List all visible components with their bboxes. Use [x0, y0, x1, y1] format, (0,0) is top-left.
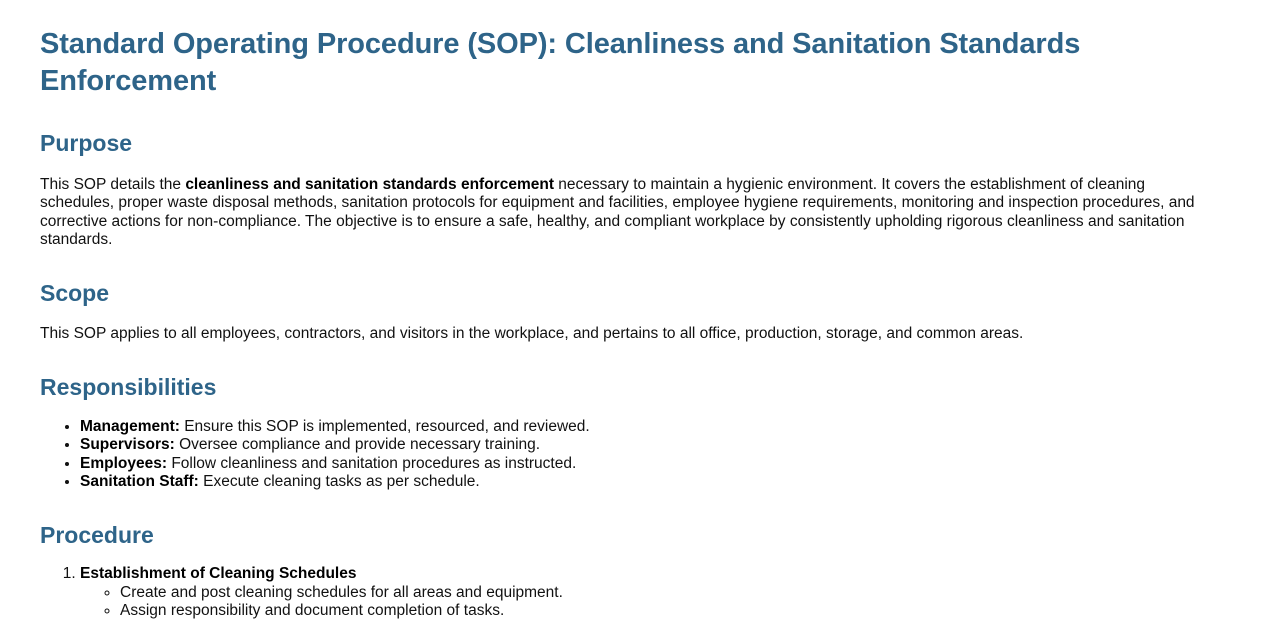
- scope-paragraph: This SOP applies to all employees, contr…: [40, 325, 1200, 344]
- section-heading-responsibilities: Responsibilities: [40, 374, 1200, 402]
- responsibility-role: Employees:: [80, 455, 167, 472]
- list-item: Establishment of Cleaning Schedules Crea…: [80, 565, 1200, 621]
- document-page: Standard Operating Procedure (SOP): Clea…: [0, 0, 1263, 621]
- responsibility-detail: Ensure this SOP is implemented, resource…: [180, 418, 590, 435]
- section-heading-purpose: Purpose: [40, 130, 1200, 158]
- list-item: Sanitation Staff: Execute cleaning tasks…: [80, 473, 1200, 492]
- purpose-paragraph: This SOP details the cleanliness and san…: [40, 176, 1200, 250]
- list-item: Employees: Follow cleanliness and sanita…: [80, 455, 1200, 474]
- procedure-list: Establishment of Cleaning Schedules Crea…: [40, 565, 1200, 621]
- list-item: Supervisors: Oversee compliance and prov…: [80, 436, 1200, 455]
- purpose-paragraph-emphasis: cleanliness and sanitation standards enf…: [185, 176, 554, 193]
- list-item: Create and post cleaning schedules for a…: [120, 584, 1200, 603]
- procedure-substep-list: Create and post cleaning schedules for a…: [80, 584, 1200, 621]
- list-item: Management: Ensure this SOP is implement…: [80, 418, 1200, 437]
- responsibility-role: Sanitation Staff:: [80, 473, 199, 490]
- responsibility-role: Management:: [80, 418, 180, 435]
- responsibility-role: Supervisors:: [80, 436, 175, 453]
- responsibility-detail: Execute cleaning tasks as per schedule.: [199, 473, 480, 490]
- responsibilities-list: Management: Ensure this SOP is implement…: [40, 418, 1200, 492]
- responsibility-detail: Follow cleanliness and sanitation proced…: [167, 455, 576, 472]
- section-heading-procedure: Procedure: [40, 522, 1200, 550]
- list-item: Assign responsibility and document compl…: [120, 602, 1200, 621]
- page-title: Standard Operating Procedure (SOP): Clea…: [40, 26, 1200, 100]
- responsibility-detail: Oversee compliance and provide necessary…: [175, 436, 540, 453]
- section-heading-scope: Scope: [40, 280, 1200, 308]
- procedure-step-title: Establishment of Cleaning Schedules: [80, 565, 356, 582]
- purpose-paragraph-lead: This SOP details the: [40, 176, 185, 193]
